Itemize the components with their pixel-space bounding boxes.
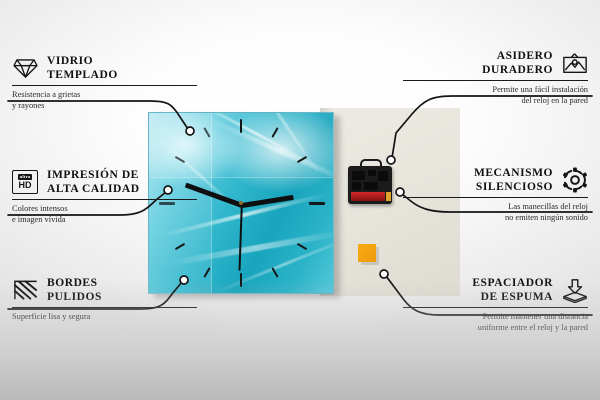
clock-tick-6: [240, 273, 242, 287]
feature-title-line1: ESPACIADOR: [472, 276, 553, 290]
feature-bordes-pulidos[interactable]: BORDES PULIDOS Superficie lisa y segura: [12, 276, 197, 322]
feature-desc-line2: e imagen vívida: [12, 214, 197, 225]
feature-desc-line1: Superficie lisa y segura: [12, 311, 197, 322]
feature-asidero-duradero[interactable]: ASIDERO DURADERO Permite una fácil insta…: [403, 49, 588, 107]
clock-center-pin: [239, 201, 243, 205]
feature-divider: [12, 307, 197, 308]
feature-desc-line1: Permite una fácil instalación: [403, 84, 588, 95]
mechanism-block-4: [352, 182, 361, 190]
ultra-hd-small-text: ultra: [18, 174, 33, 180]
feature-title: IMPRESIÓN DE ALTA CALIDAD: [47, 168, 140, 196]
mechanism-block-5: [364, 182, 378, 190]
feature-espaciador-de-espuma[interactable]: ESPACIADOR DE ESPUMA Permite mantener un…: [403, 276, 588, 334]
feature-title: MECANISMO SILENCIOSO: [474, 166, 553, 194]
feature-title-line2: DURADERO: [482, 63, 553, 77]
clock-tick-4: [297, 243, 308, 250]
feature-mecanismo-silencioso[interactable]: MECANISMO SILENCIOSO Las manecillas del …: [403, 166, 588, 224]
ultra-hd-badge: ultra HD: [12, 170, 38, 194]
feature-title-line2: PULIDOS: [47, 290, 102, 304]
feature-title-line2: SILENCIOSO: [474, 180, 553, 194]
feature-title-line1: VIDRIO: [47, 54, 118, 68]
feature-title-line1: MECANISMO: [474, 166, 553, 180]
feature-divider: [403, 197, 588, 198]
ultra-hd-large-text: HD: [19, 181, 32, 190]
feature-divider: [403, 80, 588, 81]
feature-divider: [403, 307, 588, 308]
battery-positive-tip: [386, 192, 391, 201]
feature-description: Superficie lisa y segura: [12, 311, 197, 322]
feature-heading: BORDES PULIDOS: [12, 276, 197, 304]
infographic-canvas: VIDRIO TEMPLADO Resistencia a grietas y …: [0, 0, 600, 400]
feature-title-line2: DE ESPUMA: [472, 290, 553, 304]
feature-desc-line1: Colores intensos: [12, 203, 197, 214]
feature-heading: VIDRIO TEMPLADO: [12, 54, 197, 82]
feature-desc-line2: no emiten ningún sonido: [403, 212, 588, 223]
feature-title-line2: TEMPLADO: [47, 68, 118, 82]
mechanism-block-1: [352, 171, 365, 180]
feature-title-line1: ASIDERO: [482, 49, 553, 63]
feature-desc-line2: y rayones: [12, 100, 197, 111]
clock-tick-12: [240, 119, 242, 133]
mechanism-block-2: [368, 170, 376, 176]
feature-desc-line1: Resistencia a grietas: [12, 89, 197, 100]
mechanism-block-3: [378, 171, 388, 181]
feature-description: Permite una fácil instalación del reloj …: [403, 84, 588, 107]
clock-battery: [351, 192, 385, 201]
feature-desc-line2: uniforme entre el reloj y la pared: [403, 322, 588, 333]
foam-spacer-arrow-icon: [562, 277, 588, 303]
feature-vidrio-templado[interactable]: VIDRIO TEMPLADO Resistencia a grietas y …: [12, 54, 197, 112]
feature-divider: [12, 85, 197, 86]
feature-heading: MECANISMO SILENCIOSO: [403, 166, 588, 194]
feature-title: VIDRIO TEMPLADO: [47, 54, 118, 82]
diamond-icon: [12, 55, 38, 81]
foam-spacer-piece: [358, 244, 376, 262]
feature-heading: ASIDERO DURADERO: [403, 49, 588, 77]
ultra-hd-icon: ultra HD: [12, 169, 38, 195]
feature-description: Permite mantener una distancia uniforme …: [403, 311, 588, 334]
feature-title: ESPACIADOR DE ESPUMA: [472, 276, 553, 304]
picture-hanger-icon: [562, 50, 588, 76]
feature-heading: ESPACIADOR DE ESPUMA: [403, 276, 588, 304]
feature-desc-line1: Las manecillas del reloj: [403, 201, 588, 212]
clock-mechanism: [348, 166, 392, 204]
feature-title: ASIDERO DURADERO: [482, 49, 553, 77]
feature-description: Resistencia a grietas y rayones: [12, 89, 197, 112]
feature-divider: [12, 199, 197, 200]
feature-desc-line2: del reloj en la pared: [403, 95, 588, 106]
clock-tick-3: [309, 202, 325, 205]
feature-heading: ultra HD IMPRESIÓN DE ALTA CALIDAD: [12, 168, 197, 196]
feature-title-line1: IMPRESIÓN DE: [47, 168, 140, 182]
feature-description: Colores intensos e imagen vívida: [12, 203, 197, 226]
feature-desc-line1: Permite mantener una distancia: [403, 311, 588, 322]
feature-title-line2: ALTA CALIDAD: [47, 182, 140, 196]
feature-impresion-alta-calidad[interactable]: ultra HD IMPRESIÓN DE ALTA CALIDAD Color…: [12, 168, 197, 226]
feature-title: BORDES PULIDOS: [47, 276, 102, 304]
feature-title-line1: BORDES: [47, 276, 102, 290]
feature-description: Las manecillas del reloj no emiten ningú…: [403, 201, 588, 224]
gear-icon: [562, 167, 588, 193]
diagonal-lines-icon: [12, 277, 38, 303]
